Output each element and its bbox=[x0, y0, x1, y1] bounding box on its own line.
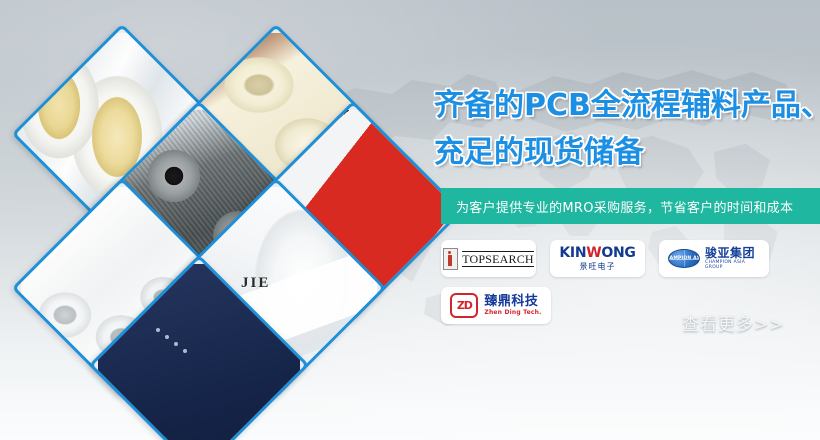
partner-logo-kinwong[interactable]: KINWONG 景旺电子 bbox=[550, 240, 645, 277]
champion-asia-name-en: CHAMPION ASIA GROUP bbox=[705, 261, 760, 270]
kinwong-wordmark: KINWONG bbox=[559, 246, 635, 260]
zhen-ding-name-en: Zhen Ding Tech. bbox=[484, 310, 541, 316]
zhen-ding-name-cn: 臻鼎科技 bbox=[484, 295, 541, 308]
headline-line-1: 齐备的PCB全流程辅料产品、 bbox=[434, 86, 820, 126]
film-label-text: JIE bbox=[241, 275, 270, 292]
headline: 齐备的PCB全流程辅料产品、 充足的现货储备 bbox=[434, 86, 820, 173]
kinwong-name-part1: KIN bbox=[559, 245, 586, 261]
topsearch-name: TOPSEARCH bbox=[462, 251, 534, 267]
zhen-ding-mark-icon: ZD bbox=[450, 293, 478, 318]
champion-asia-name-cn: 骏亚集团 bbox=[705, 247, 760, 259]
topsearch-mark-icon bbox=[443, 248, 458, 270]
subtitle-text: 为客户提供专业的MRO采购服务，节省客户的时间和成本 bbox=[441, 197, 793, 216]
view-more-link[interactable]: 查看更多>> bbox=[682, 310, 785, 335]
partner-logo-zhen-ding[interactable]: ZD 臻鼎科技 Zhen Ding Tech. bbox=[441, 287, 551, 324]
banner-content: 齐备的PCB全流程辅料产品、 充足的现货储备 为客户提供专业的MRO采购服务，节… bbox=[424, 0, 820, 440]
globe-icon: CHAMPION ASIA bbox=[668, 249, 700, 268]
headline-line-2: 充足的现货储备 bbox=[434, 133, 820, 173]
kinwong-name-part2: ONG bbox=[601, 245, 635, 261]
kinwong-name-cn: 景旺电子 bbox=[580, 263, 616, 271]
zhen-ding-mark-label: ZD bbox=[457, 300, 472, 311]
subtitle-bar: 为客户提供专业的MRO采购服务，节省客户的时间和成本 bbox=[441, 188, 820, 224]
kinwong-name-accent: W bbox=[586, 245, 601, 261]
pouch-dots-decoration bbox=[156, 328, 202, 354]
partner-logo-row-1: TOPSEARCH KINWONG 景旺电子 CHAMPION ASIA bbox=[441, 240, 816, 277]
partner-logo-topsearch[interactable]: TOPSEARCH bbox=[441, 240, 536, 277]
globe-label: CHAMPION ASIA bbox=[668, 256, 700, 261]
partner-logo-champion-asia[interactable]: CHAMPION ASIA 骏亚集团 CHAMPION ASIA GROUP bbox=[659, 240, 769, 277]
promo-banner: JIE 齐备的PCB全流程辅料产品、 充足的现货储备 为客户提供专业的MRO采购… bbox=[0, 0, 820, 440]
product-collage: JIE bbox=[0, 0, 430, 440]
